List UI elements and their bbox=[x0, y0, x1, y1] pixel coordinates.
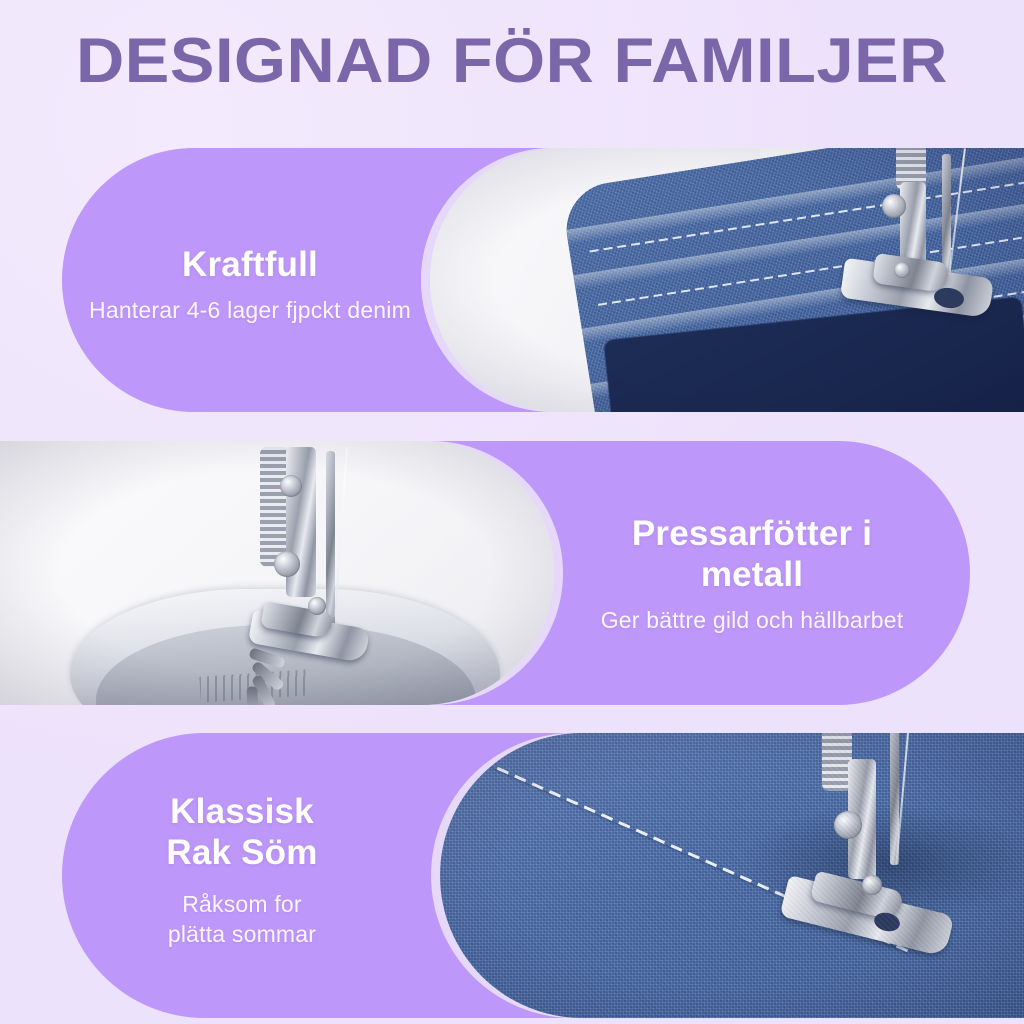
infographic-canvas: DESIGNAD FÖR FAMILJER bbox=[0, 0, 1024, 1024]
feature-1-title: Kraftfull bbox=[60, 244, 440, 285]
feature-2-title-line-2: metall bbox=[532, 554, 972, 595]
feature-2-title-line-1: Pressarfötter i bbox=[532, 513, 972, 554]
page-title: DESIGNAD FÖR FAMILJER bbox=[0, 26, 1024, 96]
feature-3-text: Klassisk Rak Söm Råksom for plätta somma… bbox=[62, 791, 422, 949]
feature-band-1: Kraftfull Hanterar 4-6 lager fjpckt deni… bbox=[0, 148, 1024, 412]
presser-foot-assembly-icon bbox=[222, 447, 412, 697]
feature-1-text: Kraftfull Hanterar 4-6 lager fjpckt deni… bbox=[60, 244, 440, 325]
feature-3-subtitle-line-2: plätta sommar bbox=[62, 919, 422, 949]
feature-1-subtitle: Hanterar 4-6 lager fjpckt denim bbox=[60, 295, 440, 325]
presser-foot-icon bbox=[822, 148, 1022, 352]
feature-2-subtitle: Ger bättre gild och hällbarbet bbox=[532, 605, 972, 635]
feature-2-text: Pressarfötter i metall Ger bättre gild o… bbox=[532, 513, 972, 635]
feature-3-photo bbox=[440, 733, 1024, 1018]
feature-3-subtitle-line-1: Råksom for bbox=[62, 889, 422, 919]
feature-2-photo bbox=[0, 441, 554, 705]
feature-band-3: Klassisk Rak Söm Råksom for plätta somma… bbox=[0, 733, 1024, 1018]
feature-3-title-line-2: Rak Söm bbox=[62, 832, 422, 873]
feature-band-2: Pressarfötter i metall Ger bättre gild o… bbox=[0, 441, 1024, 705]
presser-foot-icon bbox=[770, 733, 1000, 1005]
feature-3-title-line-1: Klassisk bbox=[62, 791, 422, 832]
feature-1-photo bbox=[430, 148, 1024, 412]
